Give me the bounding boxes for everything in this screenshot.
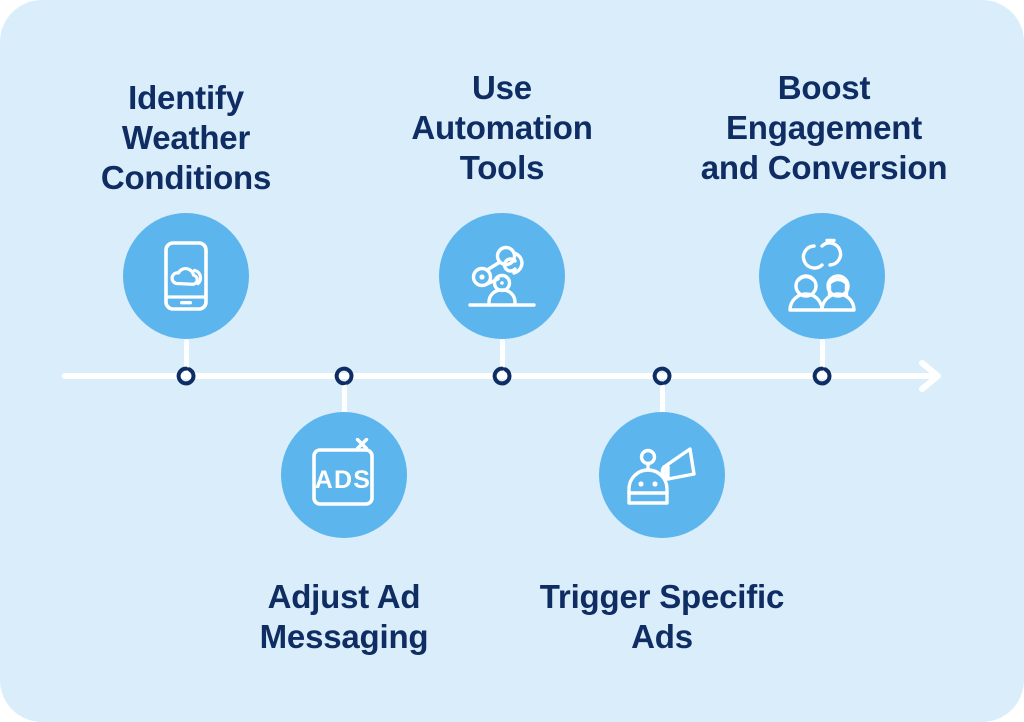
step-icon-circle-3[interactable] bbox=[439, 213, 565, 339]
step-icon-circle-5[interactable] bbox=[759, 213, 885, 339]
step-label-4: Trigger Specific Ads bbox=[472, 577, 852, 657]
step-icon-circle-4[interactable] bbox=[599, 412, 725, 538]
robot-arm-icon bbox=[462, 239, 542, 313]
step-icon-circle-2[interactable]: ADS bbox=[281, 412, 407, 538]
svg-text:ADS: ADS bbox=[315, 466, 371, 494]
step-label-3: Use Automation Tools bbox=[337, 68, 667, 188]
timeline-node-marker-2[interactable] bbox=[333, 365, 355, 387]
timeline-node-marker-4[interactable] bbox=[651, 365, 673, 387]
two-people-engagement-icon bbox=[782, 238, 862, 314]
step-label-5: Boost Engagement and Conversion bbox=[624, 68, 1024, 188]
step-icon-circle-1[interactable] bbox=[123, 213, 249, 339]
timeline-node-marker-5[interactable] bbox=[811, 365, 833, 387]
timeline-node-marker-1[interactable] bbox=[175, 365, 197, 387]
arrow-right-icon bbox=[918, 359, 944, 393]
infographic-card: Identify Weather Conditions bbox=[0, 0, 1024, 722]
smartphone-cloud-icon bbox=[153, 239, 219, 313]
ads-box-close-icon: ADS bbox=[307, 438, 381, 512]
robot-megaphone-icon bbox=[622, 439, 702, 511]
step-label-2: Adjust Ad Messaging bbox=[184, 577, 504, 657]
timeline-node-marker-3[interactable] bbox=[491, 365, 513, 387]
step-label-1: Identify Weather Conditions bbox=[36, 78, 336, 198]
